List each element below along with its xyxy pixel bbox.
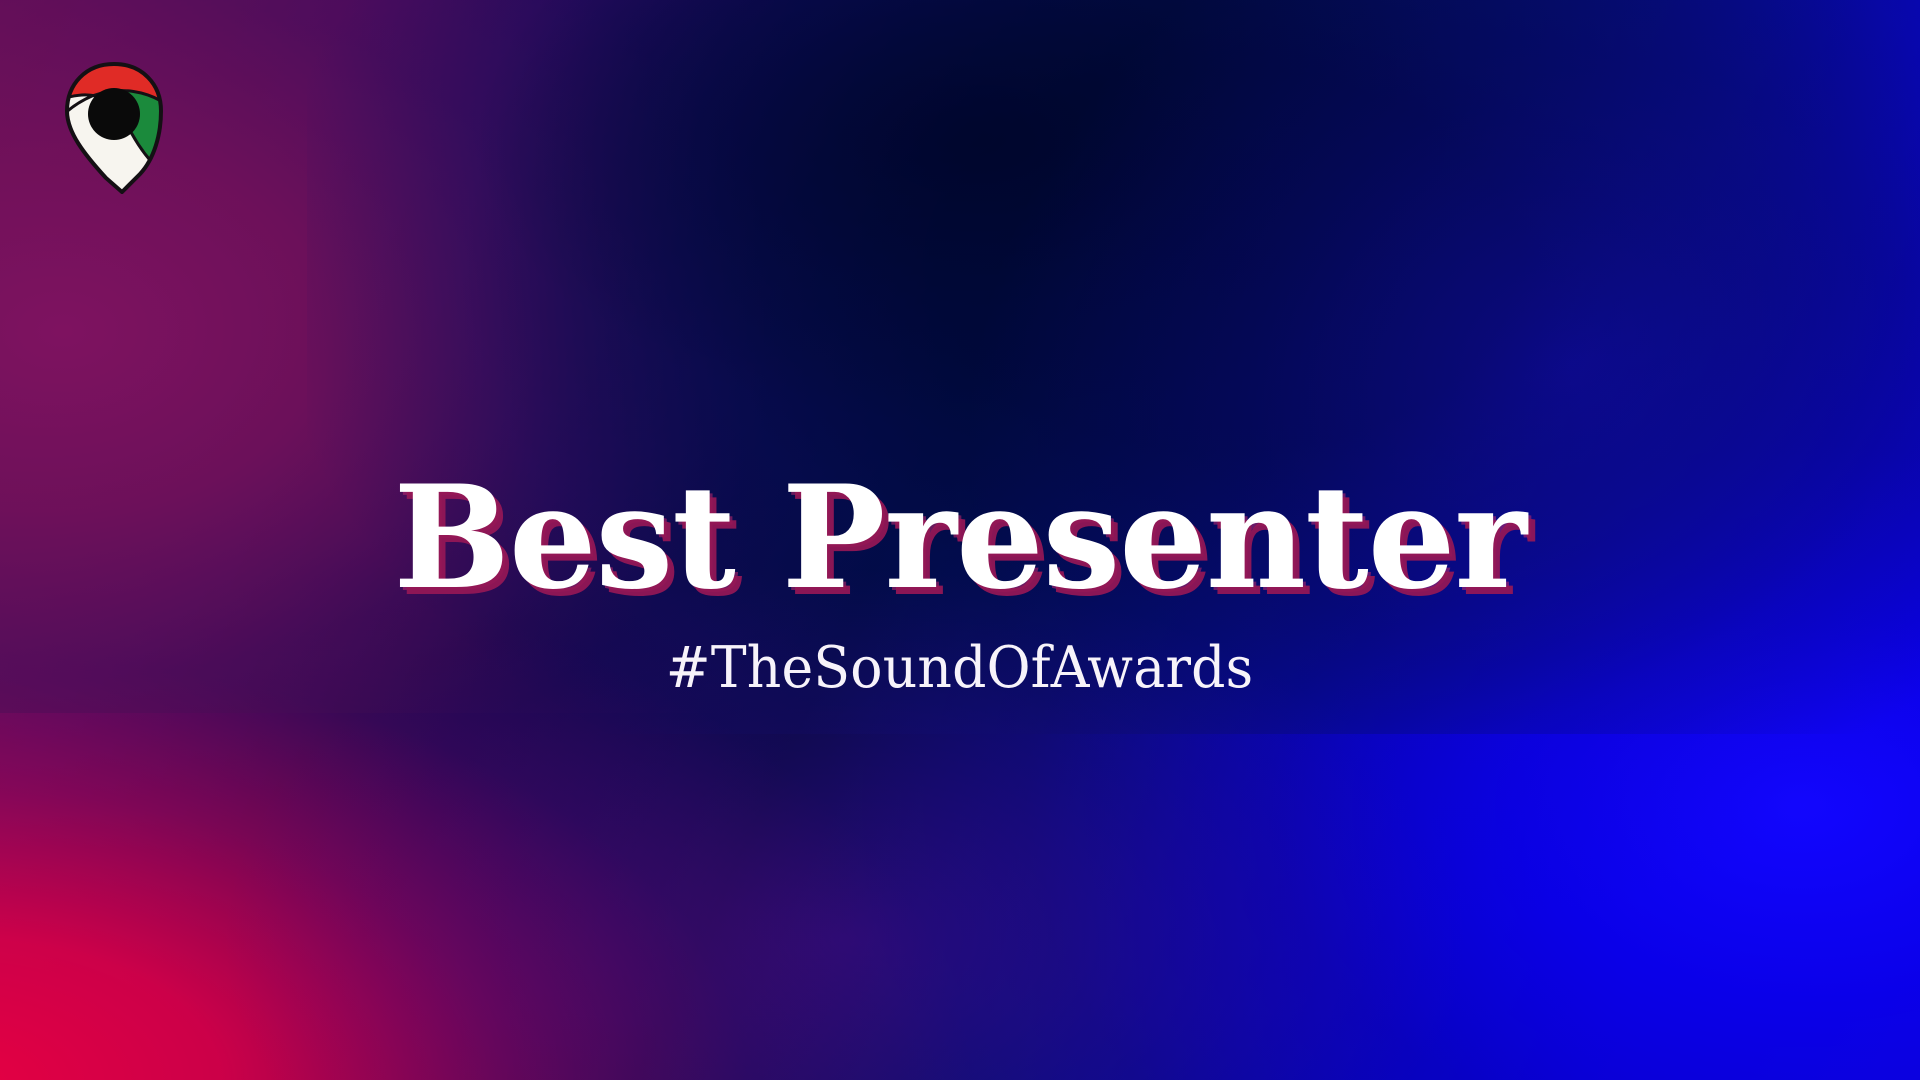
award-slide: Best Presenter #TheSoundOfAwards <box>0 0 1920 1080</box>
award-title: Best Presenter <box>394 466 1527 611</box>
award-hashtag: #TheSoundOfAwards <box>666 637 1254 700</box>
slide-content: Best Presenter #TheSoundOfAwards <box>0 0 1920 1080</box>
